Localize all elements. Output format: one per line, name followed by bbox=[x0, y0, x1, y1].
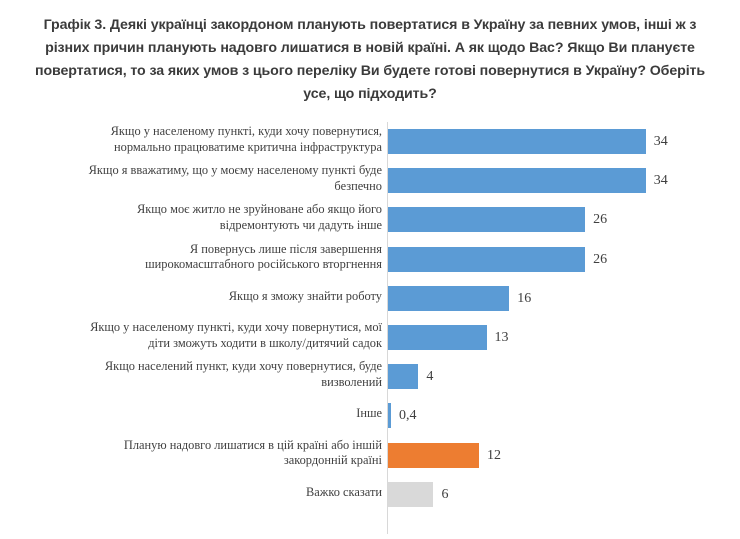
category-label-line: Планую надовго лишатися в цій країні або… bbox=[70, 438, 382, 454]
category-label-line: діти зможуть ходити в школу/дитячий садо… bbox=[70, 336, 382, 352]
category-label-line: Якщо моє житло не зруйноване або якщо йо… bbox=[70, 202, 382, 218]
bar-row: Якщо у населеному пункті, куди хочу пове… bbox=[0, 318, 740, 357]
bar-row: Якщо я вважатиму, що у моєму населеному … bbox=[0, 161, 740, 200]
category-label: Важко сказати bbox=[70, 475, 382, 501]
bar-row: Я повернусь лише після завершенняшироком… bbox=[0, 240, 740, 279]
category-label-line: Якщо у населеному пункті, куди хочу пове… bbox=[70, 320, 382, 336]
category-label-line: закордонній країні bbox=[70, 453, 382, 469]
category-label: Якщо у населеному пункті, куди хочу пове… bbox=[70, 122, 382, 155]
bar-value-label: 6 bbox=[441, 482, 448, 507]
bar-row: Якщо населений пункт, куди хочу повернут… bbox=[0, 357, 740, 396]
category-label: Якщо населений пункт, куди хочу повернут… bbox=[70, 357, 382, 390]
category-label-line: Інше bbox=[70, 406, 382, 422]
category-label: Якщо моє житло не зруйноване або якщо йо… bbox=[70, 200, 382, 233]
bar-value-label: 34 bbox=[654, 168, 668, 193]
bar bbox=[388, 129, 646, 154]
category-label: Інше bbox=[70, 396, 382, 422]
bar bbox=[388, 482, 433, 507]
category-label-line: Якщо населений пункт, куди хочу повернут… bbox=[70, 359, 382, 375]
category-label-line: Якщо я вважатиму, що у моєму населеному … bbox=[70, 163, 382, 179]
category-label-line: Важко сказати bbox=[70, 485, 382, 501]
bar bbox=[388, 247, 585, 272]
bar-value-label: 26 bbox=[593, 247, 607, 272]
bar-value-label: 12 bbox=[487, 443, 501, 468]
category-label-line: Якщо я зможу знайти роботу bbox=[70, 289, 382, 305]
category-label-line: нормально працюватиме критична інфрастру… bbox=[70, 140, 382, 156]
bar-row: Важко сказати6 bbox=[0, 475, 740, 514]
category-label: Я повернусь лише після завершенняшироком… bbox=[70, 240, 382, 273]
bar bbox=[388, 207, 585, 232]
bar bbox=[388, 403, 391, 428]
bar-row: Якщо моє житло не зруйноване або якщо йо… bbox=[0, 200, 740, 239]
bar bbox=[388, 325, 487, 350]
bar-value-label: 26 bbox=[593, 207, 607, 232]
plot-area: Якщо у населеному пункті, куди хочу пове… bbox=[0, 122, 740, 534]
chart-figure: Графік 3. Деякі українці закордоном план… bbox=[0, 0, 740, 539]
bar-value-label: 0,4 bbox=[399, 403, 417, 428]
bar-value-label: 4 bbox=[426, 364, 433, 389]
bar bbox=[388, 443, 479, 468]
bar-row: Інше0,4 bbox=[0, 396, 740, 435]
chart-title: Графік 3. Деякі українці закордоном план… bbox=[20, 14, 720, 106]
bar-row: Планую надовго лишатися в цій країні або… bbox=[0, 436, 740, 475]
category-label-line: широкомасштабного російського вторгнення bbox=[70, 257, 382, 273]
category-label-line: безпечно bbox=[70, 179, 382, 195]
bar bbox=[388, 364, 418, 389]
bar-row: Якщо у населеному пункті, куди хочу пове… bbox=[0, 122, 740, 161]
category-label: Якщо у населеному пункті, куди хочу пове… bbox=[70, 318, 382, 351]
bar-row: Якщо я зможу знайти роботу16 bbox=[0, 279, 740, 318]
category-label: Якщо я вважатиму, що у моєму населеному … bbox=[70, 161, 382, 194]
category-label-line: визволений bbox=[70, 375, 382, 391]
bar-value-label: 13 bbox=[495, 325, 509, 350]
category-label: Планую надовго лишатися в цій країні або… bbox=[70, 436, 382, 469]
bar bbox=[388, 286, 509, 311]
bar-value-label: 16 bbox=[517, 286, 531, 311]
category-label-line: Я повернусь лише після завершення bbox=[70, 242, 382, 258]
category-label-line: відремонтують чи дадуть інше bbox=[70, 218, 382, 234]
category-label-line: Якщо у населеному пункті, куди хочу пове… bbox=[70, 124, 382, 140]
category-label: Якщо я зможу знайти роботу bbox=[70, 279, 382, 305]
bar-value-label: 34 bbox=[654, 129, 668, 154]
bar bbox=[388, 168, 646, 193]
